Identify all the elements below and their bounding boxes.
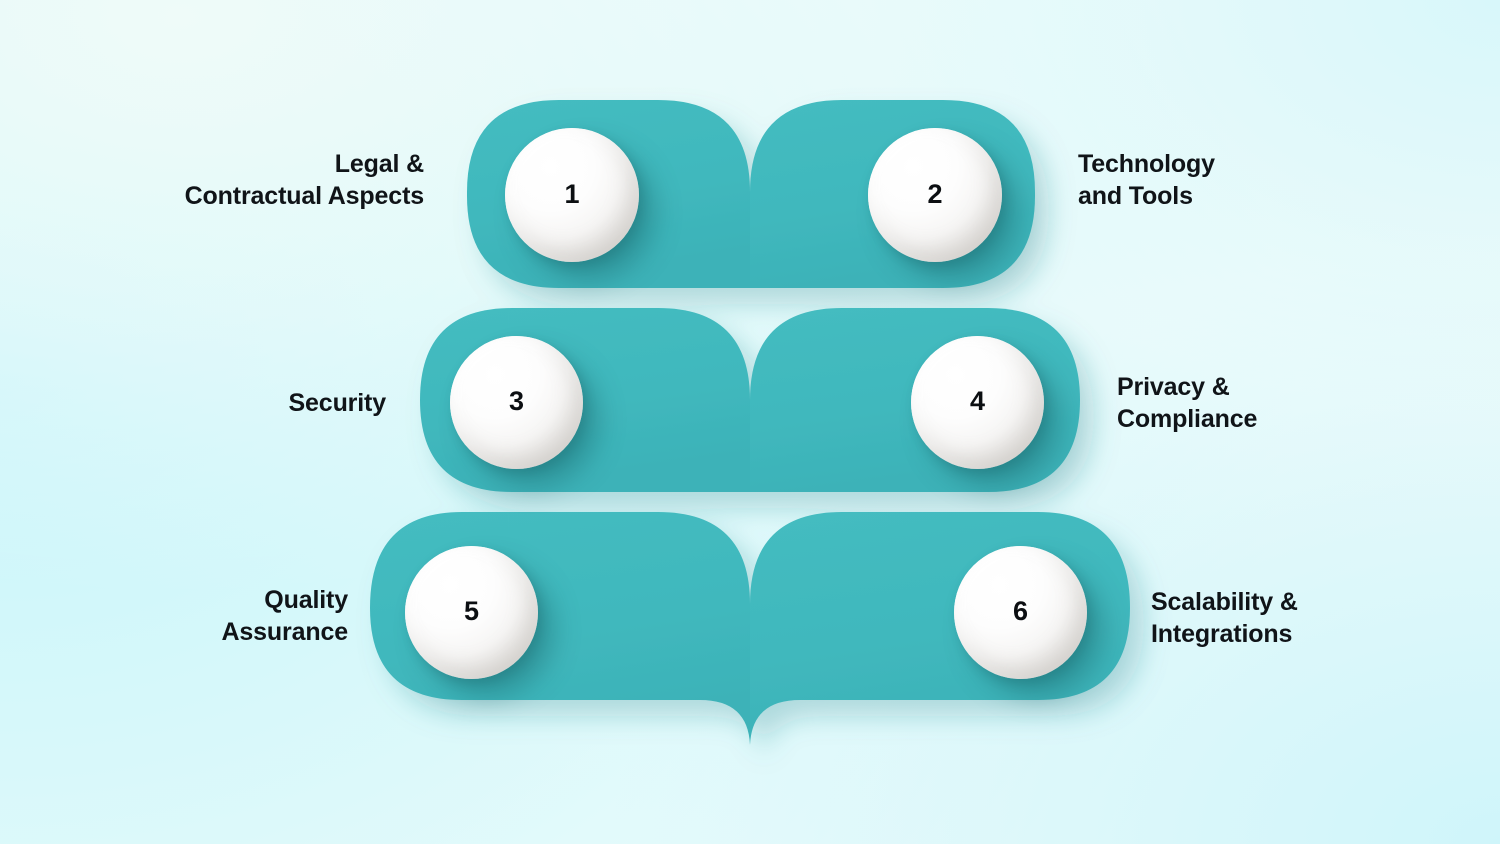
diagram-canvas: Legal & Contractual Aspects Technology a… — [0, 0, 1500, 844]
number-sphere-2[interactable]: 2 — [868, 128, 1002, 262]
sphere-number-6: 6 — [1013, 596, 1028, 627]
label-item-2: Technology and Tools — [1078, 148, 1378, 212]
number-sphere-4[interactable]: 4 — [911, 336, 1044, 469]
sphere-number-1: 1 — [564, 179, 579, 210]
number-sphere-1[interactable]: 1 — [505, 128, 639, 262]
number-sphere-3[interactable]: 3 — [450, 336, 583, 469]
label-item-4: Privacy & Compliance — [1117, 371, 1417, 435]
sphere-number-4: 4 — [970, 386, 985, 417]
label-item-1: Legal & Contractual Aspects — [124, 148, 424, 212]
label-item-5: Quality Assurance — [48, 584, 348, 648]
sphere-number-3: 3 — [509, 386, 524, 417]
number-sphere-5[interactable]: 5 — [405, 546, 538, 679]
label-item-6: Scalability & Integrations — [1151, 586, 1451, 650]
number-sphere-6[interactable]: 6 — [954, 546, 1087, 679]
label-item-3: Security — [86, 387, 386, 419]
sphere-number-2: 2 — [927, 179, 942, 210]
sphere-number-5: 5 — [464, 596, 479, 627]
